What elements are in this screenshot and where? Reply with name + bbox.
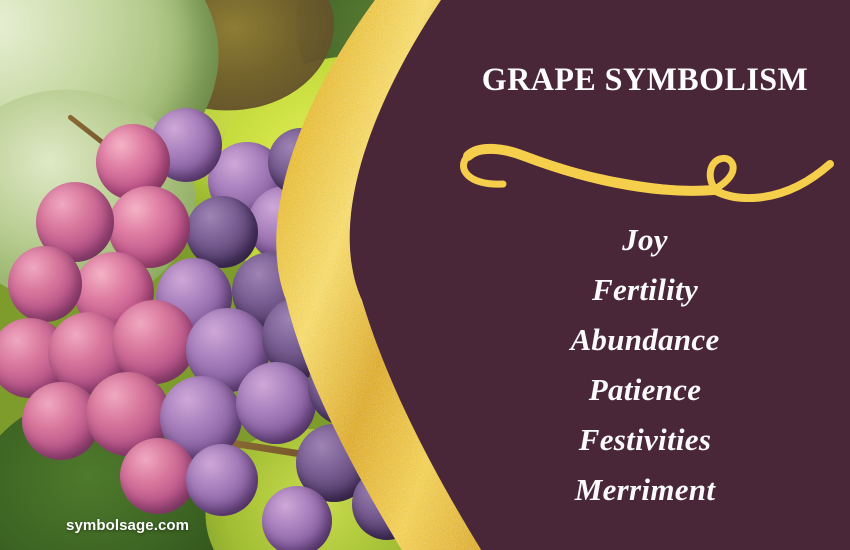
list-item: Patience [440,365,850,415]
symbolism-word-list: Joy Fertility Abundance Patience Festivi… [440,215,850,515]
list-item: Abundance [440,315,850,365]
list-item: Festivities [440,415,850,465]
list-item: Joy [440,215,850,265]
content-column: GRAPE SYMBOLISM Joy Fertility Abundance … [440,0,850,550]
watermark: symbolsage.com [66,517,189,534]
list-item: Merriment [440,465,850,515]
page-title: GRAPE SYMBOLISM [446,62,844,99]
list-item: Fertility [440,265,850,315]
flourish-ornament-icon [448,140,843,202]
grape-symbolism-graphic: GRAPE SYMBOLISM Joy Fertility Abundance … [0,0,850,550]
